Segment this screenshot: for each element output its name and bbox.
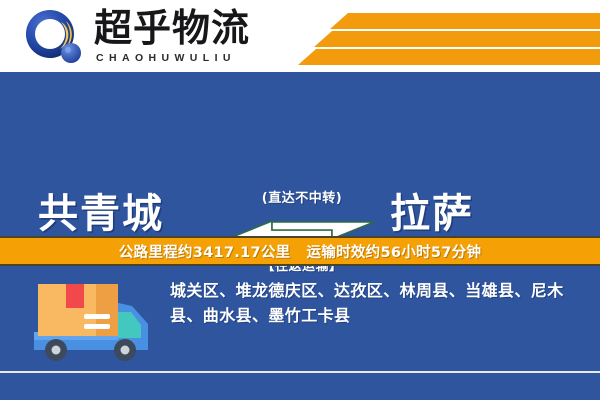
decorative-stripes: [290, 0, 600, 72]
duration-text: 运输时效约56小时57分钟: [306, 241, 481, 262]
coverage-districts: 城关区、堆龙德庆区、达孜区、林周县、当雄县、尼木县、曲水县、墨竹工卡县: [170, 278, 588, 328]
brand-name-cn: 超乎物流: [94, 5, 250, 51]
delivery-truck-icon: [26, 272, 154, 364]
circle-q-logo-icon: [24, 8, 86, 66]
origin-city: 共青城: [38, 190, 164, 238]
distance-text: 公路里程约3417.17公里: [119, 241, 291, 262]
brand-name-en: CHAOHUWULIU: [96, 52, 236, 64]
destination-city: 拉萨: [390, 190, 474, 238]
route-section: 共青城 (直达不中转) 【往返运输】 拉萨: [0, 72, 600, 236]
info-bar: 公路里程约3417.17公里 运输时效约56小时57分钟: [0, 236, 600, 266]
brand-logo: 超乎物流 CHAOHUWULIU: [24, 7, 279, 65]
logistics-route-banner: 超乎物流 CHAOHUWULIU 共青城 (直达不中转): [0, 0, 600, 400]
route-note-direct: (直达不中转): [228, 187, 376, 206]
bottom-divider: [0, 371, 600, 373]
banner-header: 超乎物流 CHAOHUWULIU: [0, 0, 600, 72]
